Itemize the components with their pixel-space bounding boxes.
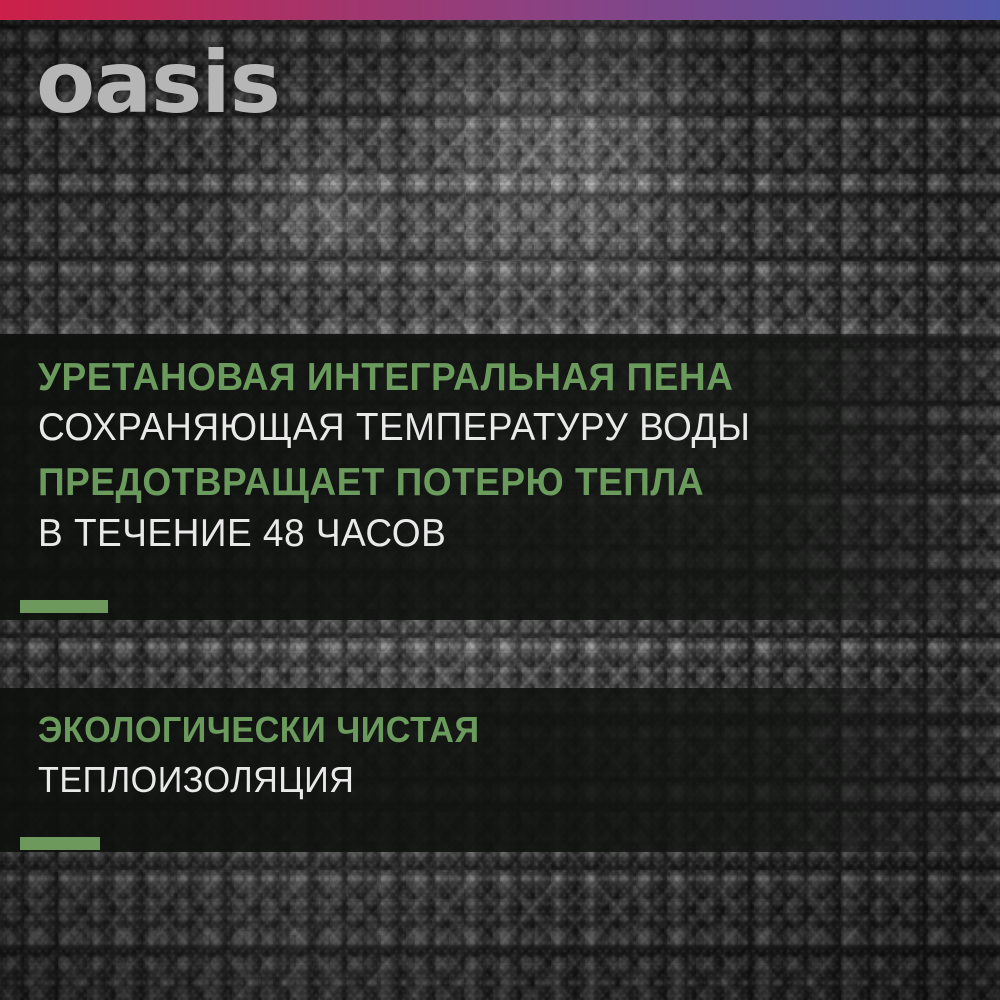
headline-foam-line-3: ПРЕДОТВРАЩАЕТ ПОТЕРЮ ТЕПЛА bbox=[38, 463, 704, 502]
headline-foam-line-4: В ТЕЧЕНИЕ 48 ЧАСОВ bbox=[38, 514, 446, 553]
promo-poster: oasis УРЕТАНОВАЯ ИНТЕГРАЛЬНАЯ ПЕНА СОХРА… bbox=[0, 0, 1000, 1000]
accent-rule-eco bbox=[20, 837, 100, 850]
headline-eco-line-2: ТЕПЛОИЗОЛЯЦИЯ bbox=[38, 762, 354, 798]
headline-foam-line-2: СОХРАНЯЮЩАЯ ТЕМПЕРАТУРУ ВОДЫ bbox=[38, 408, 750, 447]
accent-rule-foam bbox=[20, 600, 108, 613]
headline-eco-line-1: ЭКОЛОГИЧЕСКИ ЧИСТАЯ bbox=[38, 712, 480, 748]
headline-foam-line-1: УРЕТАНОВАЯ ИНТЕГРАЛЬНАЯ ПЕНА bbox=[38, 358, 733, 397]
top-gradient-bar bbox=[0, 0, 1000, 20]
brand-logo: oasis bbox=[36, 40, 280, 126]
